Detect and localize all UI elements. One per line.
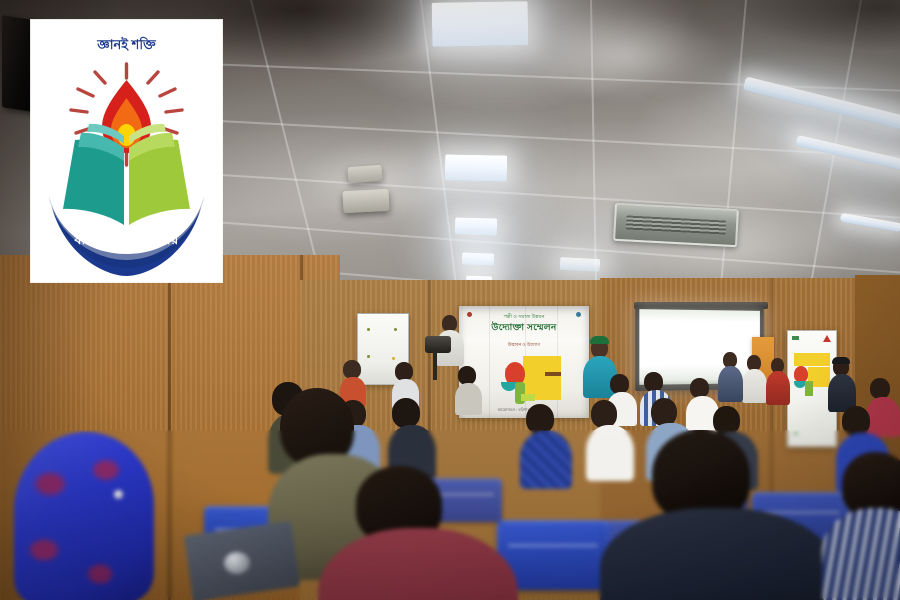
photograph-canvas: পল্লী ও সমাজ উন্নয়ন উদ্যোক্তা সম্মেলন উ…: [0, 0, 900, 600]
backdrop-footer: আয়োজনে : বরিশাল বিশ্ববিদ্যালয়: [469, 407, 579, 414]
standee-emblem-red: [794, 366, 808, 382]
standee-footer-text: SD: [793, 431, 799, 436]
standee-emblem-green: [805, 381, 813, 396]
ceiling-light-panel: [455, 217, 497, 235]
backdrop-headline: উদ্যোক্তা সম্মেলন: [471, 322, 577, 332]
standee-emblem-yellow: [794, 353, 830, 366]
ceiling-projector: [342, 189, 389, 213]
hijab: [14, 432, 154, 600]
standee-logo-mark: [792, 336, 799, 340]
hijab-pin: [114, 490, 123, 499]
backdrop-subline: উদ্ভাবন ও উদ্যোগ: [471, 342, 577, 347]
logo-motto-text: জ্ঞানই শক্তি: [31, 36, 222, 57]
backdrop-emblem-lightgreen: [521, 394, 535, 401]
backdrop-headline-small: পল্লী ও সমাজ উন্নয়ন: [471, 314, 577, 320]
standee-logo-triangle: [823, 335, 831, 342]
ceiling-light-panel: [445, 154, 507, 181]
ceiling-light-panel: [462, 252, 494, 265]
projector-mount: [347, 165, 382, 183]
logo-institution-text: বরিশাল বিশ্ববিদ্যালয়: [31, 232, 222, 252]
video-camera: [425, 336, 451, 353]
presenter-cap: [590, 336, 609, 344]
woman-in-blue-hijab: [8, 432, 168, 600]
backdrop-emblem-bar: [545, 372, 561, 376]
camera-tripod: [433, 350, 437, 380]
ceiling-glare: [520, 10, 730, 100]
ceiling-light-panel: [432, 1, 529, 47]
air-conditioner-vent: [613, 203, 739, 247]
ceiling-light-panel: [560, 257, 601, 272]
barishal-university-logo: জ্ঞানই শক্তি বরিশাল বিশ্ববিদ্যালয়: [31, 20, 222, 282]
device-lens: [224, 552, 250, 574]
